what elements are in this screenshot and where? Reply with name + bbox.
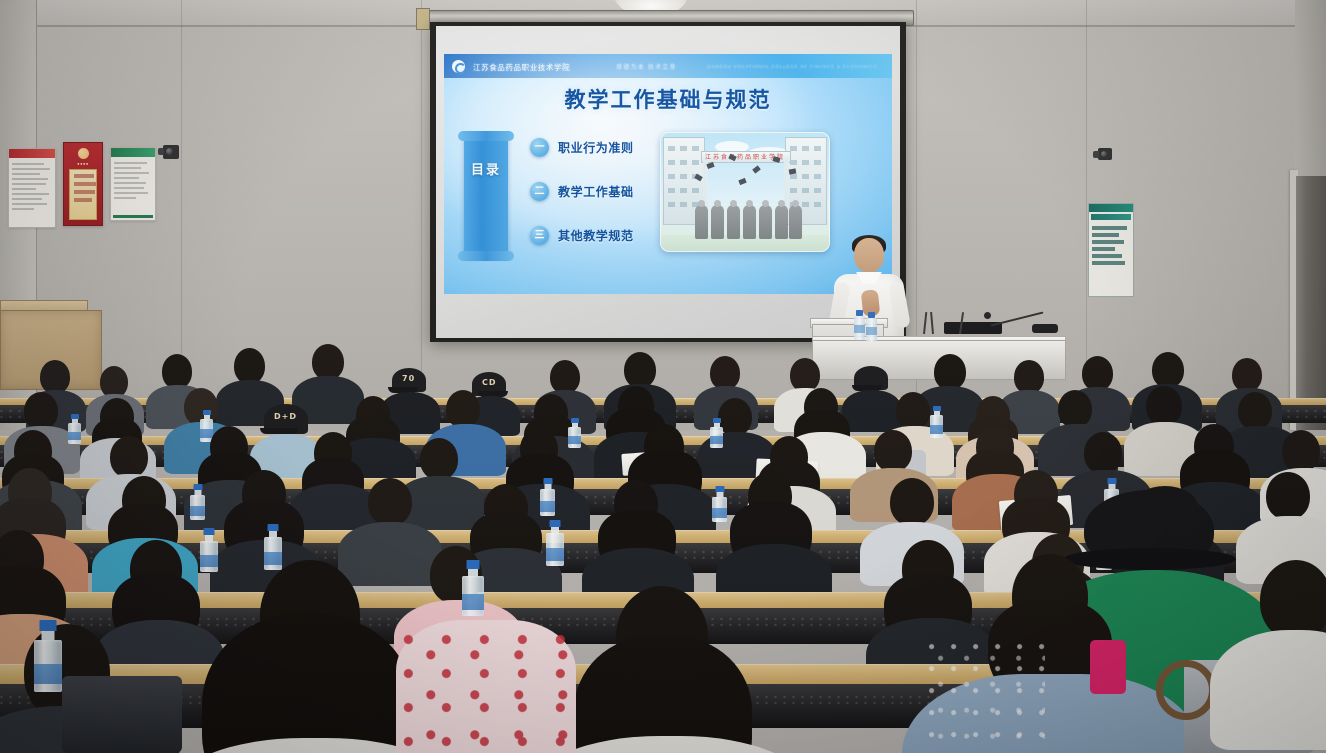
wall-poster-1 (8, 148, 56, 228)
water-bottle (264, 524, 282, 570)
poster-text-lines (114, 162, 152, 217)
slide-header-bar: 江苏食品药品职业技术学院 厚德为本 技术立身 JIANGSU VOCATIONA… (444, 54, 892, 78)
water-bottle (930, 406, 943, 438)
wall-seam-2 (420, 0, 422, 430)
water-bottle (200, 528, 218, 572)
security-camera-icon-right (1098, 148, 1112, 160)
presentation-slide: 江苏食品药品职业技术学院 厚德为本 技术立身 JIANGSU VOCATIONA… (444, 54, 892, 294)
water-bottle (568, 418, 581, 448)
water-bottle (34, 620, 62, 692)
water-bottle (190, 484, 205, 520)
toc-number: 三 (530, 226, 549, 245)
toc-item-3: 三 其他教学规范 (530, 226, 634, 245)
notice-subheader (1091, 214, 1131, 220)
wall-poster-2: ●●●● (63, 142, 103, 226)
water-bottle (710, 418, 723, 448)
toc-number: 一 (530, 138, 549, 157)
pink-item (1090, 640, 1126, 694)
wall-poster-3 (110, 147, 156, 221)
toc-number: 二 (530, 182, 549, 201)
slide-graduation-photo: 江苏食品药品职业学院 (660, 132, 830, 252)
toc-label: 目录 (464, 162, 508, 180)
poster-header (111, 148, 155, 157)
lecture-hall-photo: ●●●● (0, 0, 1326, 753)
microphone-base (1032, 324, 1058, 333)
slide-title: 教学工作基础与规范 (444, 84, 892, 114)
cherry-print-pattern (400, 630, 572, 753)
notice-header (1089, 204, 1133, 212)
poster-header (9, 149, 55, 158)
poster-inner-card (69, 169, 97, 220)
poster-text-lines (12, 163, 52, 224)
side-door[interactable] (1296, 176, 1326, 430)
security-camera-icon (163, 145, 179, 159)
podium-water-bottle-2 (866, 312, 877, 342)
toc-scroll-graphic: 目录 (464, 136, 508, 256)
toc-item-1: 一 职业行为准则 (530, 138, 634, 157)
wall-poster-4 (1088, 203, 1134, 297)
toc-item-2: 二 教学工作基础 (530, 182, 634, 201)
toc-text: 职业行为准则 (558, 139, 634, 156)
water-bottle (712, 486, 727, 522)
toc-text: 教学工作基础 (558, 183, 634, 200)
poster-emblem-icon (78, 148, 89, 159)
backpack (62, 676, 182, 753)
notice-rows (1092, 226, 1130, 293)
podium-water-bottle (854, 310, 865, 340)
water-bottle (462, 560, 484, 616)
microphone-head-icon (984, 312, 991, 319)
water-bottle (540, 478, 555, 516)
denim-embroidery-pattern (925, 640, 1045, 750)
water-bottle (546, 520, 564, 566)
water-bottle (68, 414, 81, 444)
school-emblem-icon (452, 60, 465, 73)
slide-motto: 厚德为本 技术立身 (616, 62, 676, 71)
slide-institution-name: 江苏食品药品职业技术学院 (473, 63, 570, 72)
presenter-head (854, 238, 884, 272)
bag-strap-ring (1156, 660, 1216, 720)
toc-text: 其他教学规范 (558, 227, 634, 244)
slide-motto-en: JIANGSU VOCATIONAL COLLEGE OF FINANCE & … (707, 64, 878, 69)
